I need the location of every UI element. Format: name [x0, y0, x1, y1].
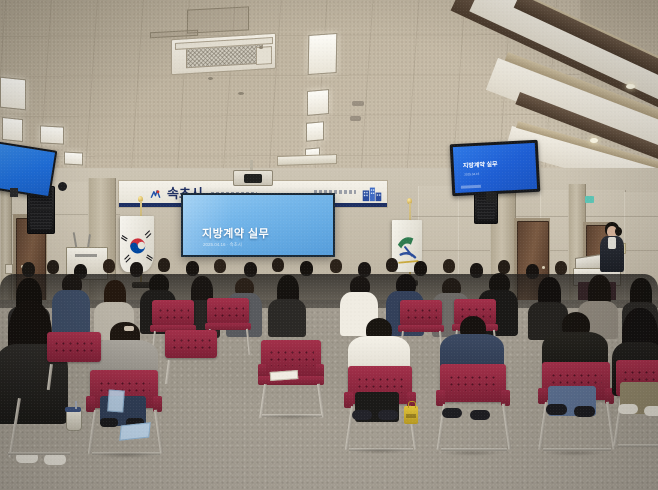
seminar-hall-photo: 속초시 지방계약 실무 202 — [0, 0, 658, 490]
attendee-hairclip — [124, 326, 134, 331]
monitor-slide-footer — [461, 185, 481, 189]
chair-perforation — [405, 307, 437, 319]
wall-seam — [412, 216, 658, 217]
city-building-icon — [362, 186, 382, 202]
cup-lid — [65, 407, 81, 412]
ceiling-speaker — [352, 101, 364, 106]
monitor-slide-title: 지방계약 실무 — [463, 162, 498, 171]
ceiling-air-conditioner — [171, 33, 276, 75]
chair-shadow — [442, 450, 502, 456]
chair-leg — [246, 329, 251, 355]
ceiling-projector — [233, 170, 273, 186]
attendee-head — [158, 258, 170, 272]
ceiling-sprinkler — [259, 46, 263, 49]
chair-leg — [88, 410, 97, 454]
wall-monitor-right: 지방계약 실무 2025.04.16 — [450, 140, 541, 197]
attendee-shoe — [44, 454, 66, 465]
chair-perforation — [212, 305, 244, 317]
wall-monitor-right-mount — [486, 192, 496, 202]
attendee-head — [330, 259, 342, 273]
speaker-grille — [30, 211, 52, 229]
monitor-slide-subtitle: 2025.04.16 — [464, 172, 479, 177]
gooseneck-microphone — [73, 232, 78, 248]
ceiling-light-panel — [307, 89, 329, 116]
wall-speaker-small — [58, 182, 67, 191]
soffit-downlight — [590, 138, 598, 143]
ceiling-light-panel — [64, 152, 83, 166]
ceiling-light-panel — [0, 77, 26, 111]
chair-perforation — [171, 337, 211, 350]
chair-backrest — [47, 332, 101, 362]
attendee-shoe — [574, 406, 595, 417]
ceiling-sprinkler — [208, 77, 213, 80]
chair-perforation — [53, 340, 94, 354]
attendee-shoe — [442, 408, 462, 418]
attendee-shoe — [644, 406, 658, 416]
chair-perforation — [157, 307, 189, 319]
attendee-shoe — [470, 410, 490, 420]
chair-perforation — [356, 376, 405, 393]
projector-mount — [250, 160, 253, 170]
yellow-bag[interactable] — [404, 406, 418, 424]
attendee-head — [386, 258, 398, 272]
chair-leg — [317, 384, 325, 418]
white-notebook — [270, 370, 299, 381]
ceiling-speaker — [350, 116, 361, 121]
wall-monitor-left-mount — [10, 188, 18, 197]
bag-label — [406, 414, 416, 418]
chair-perforation — [268, 349, 314, 366]
coffee-cup[interactable] — [66, 405, 80, 429]
ac-vent — [256, 46, 272, 65]
gooseneck-microphone — [87, 234, 91, 248]
empty-chair-with-notebook[interactable] — [258, 340, 324, 418]
chair-leg-rail — [8, 452, 70, 455]
wall-emergency-sign — [585, 196, 594, 203]
chair-shadow — [350, 448, 410, 454]
chair-shadow — [96, 452, 156, 458]
cup-straw — [75, 401, 77, 409]
attendee-shoe — [100, 418, 118, 427]
chair[interactable] — [162, 330, 220, 386]
attendee-head — [272, 258, 284, 272]
chair-backrest — [440, 364, 506, 402]
slide-title: 지방계약 실무 — [202, 228, 269, 240]
blue-handout[interactable] — [107, 389, 124, 412]
attendee-head — [443, 259, 455, 273]
projector-lens — [244, 174, 262, 183]
ceiling-sign-strip — [277, 154, 337, 166]
chair-shadow — [544, 450, 606, 456]
cup-body — [66, 410, 82, 431]
chair-seat — [205, 323, 251, 330]
chair-leg — [47, 364, 53, 390]
ceiling-light-panel — [40, 125, 64, 144]
attendee-torso — [268, 299, 306, 337]
attendee-shoe — [546, 404, 567, 415]
ceiling-light-panel — [2, 117, 23, 142]
bag-handle — [408, 401, 416, 408]
attendee — [268, 275, 306, 335]
chair-backrest — [152, 300, 194, 326]
attendee-head — [103, 259, 115, 273]
chair-leg — [502, 404, 511, 450]
ceiling-sprinkler — [238, 92, 244, 95]
chair-leg — [259, 384, 267, 418]
ceiling-light-panel — [306, 121, 324, 142]
soffit-downlight — [626, 84, 635, 89]
chair-backrest — [165, 330, 217, 358]
chair-leg-rail — [618, 444, 658, 447]
attendee-shoe — [378, 410, 398, 420]
attendee-shoe — [352, 410, 372, 420]
presenter-hair-bun — [615, 227, 622, 236]
chair-backrest — [207, 298, 249, 324]
wall-monitor-right-screen: 지방계약 실무 2025.04.16 — [453, 143, 537, 193]
ceiling-light-panel — [308, 33, 338, 75]
chair-perforation — [448, 374, 498, 391]
chair-shadow — [262, 414, 320, 420]
wall-monitor-left-screen — [0, 142, 55, 196]
projection-screen-surface: 지방계약 실무 2025.04.16 · 속초시 — [183, 195, 333, 255]
chair-leg — [165, 360, 171, 384]
attendee-head — [214, 259, 226, 273]
chair-leg — [154, 410, 163, 454]
attendee-shoe — [618, 404, 638, 414]
chair[interactable] — [44, 332, 104, 392]
